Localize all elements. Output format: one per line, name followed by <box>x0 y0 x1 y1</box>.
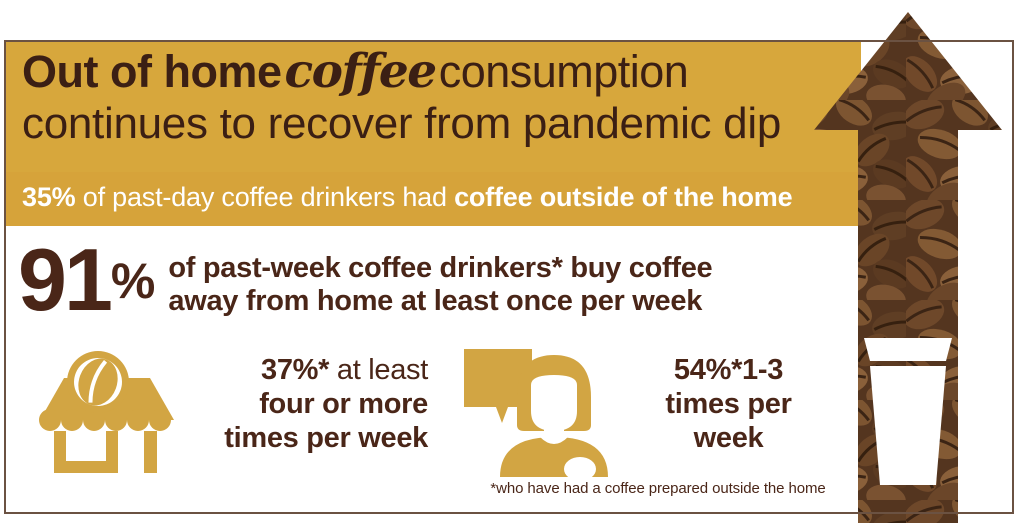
headline-script-word: coffee <box>281 44 438 99</box>
stat-line-1-left: 37%* at least <box>188 353 428 387</box>
subtitle-stat: 35% <box>22 182 75 212</box>
primary-stat-percent-sign: % <box>111 256 154 306</box>
coffee-bean-arrow-graphic <box>790 0 1022 523</box>
stat-qualifier-37: at least <box>329 354 428 386</box>
stat-line-2-left: four or more <box>188 387 428 421</box>
stat-block-coffee-shop: 37%* at least four or more times per wee… <box>18 345 448 485</box>
subtitle-emphasis: coffee outside of the home <box>454 182 792 212</box>
headline-bold-part: Out of home <box>22 46 281 97</box>
stat-line-3-left: times per week <box>188 421 428 455</box>
headline-line-1: Out of homecoffeeconsumption <box>22 50 852 95</box>
primary-stat-block: 91 % of past-week coffee drinkers* buy c… <box>18 240 858 338</box>
coffee-shop-icon <box>18 345 178 485</box>
stat-description-coffee-shop: 37%* at least four or more times per wee… <box>188 353 428 456</box>
stat-value-37: 37%* <box>261 354 329 386</box>
primary-stat-description-line-1: of past-week coffee drinkers* buy coffee <box>168 252 712 285</box>
subtitle-middle: of past-day coffee drinkers had <box>75 182 454 212</box>
subtitle-text: 35% of past-day coffee drinkers had coff… <box>22 182 852 213</box>
primary-stat-description-line-2: away from home at least once per week <box>168 285 712 318</box>
headline-line-2: continues to recover from pandemic dip <box>22 103 852 145</box>
person-speech-bubble-icon <box>462 345 612 485</box>
primary-stat-description: of past-week coffee drinkers* buy coffee… <box>168 252 712 318</box>
primary-stat-number-group: 91 % <box>18 240 154 321</box>
headline: Out of homecoffeeconsumption continues t… <box>22 50 852 144</box>
primary-stat-number: 91 <box>18 240 110 321</box>
infographic-root: Out of homecoffeeconsumption continues t… <box>0 0 1022 523</box>
headline-regular-part: consumption <box>439 46 689 97</box>
